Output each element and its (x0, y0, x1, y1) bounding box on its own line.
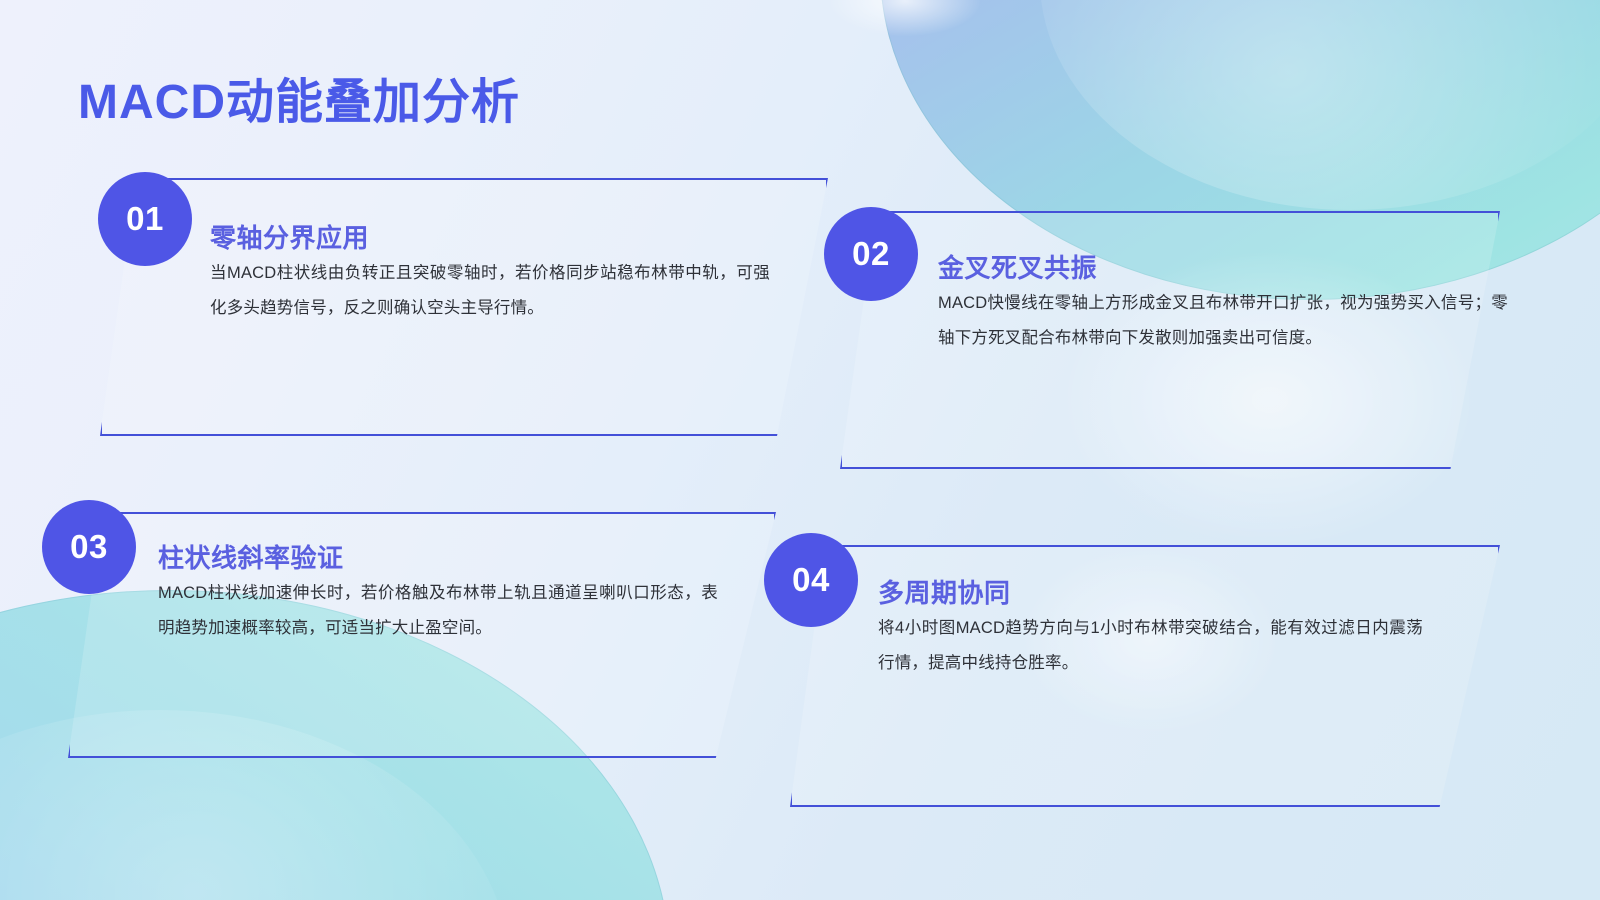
card-number-badge-04: 04 (764, 533, 858, 627)
card-number-badge-02: 02 (824, 207, 918, 301)
page-title: MACD动能叠加分析 (78, 62, 520, 132)
top-right-circle-highlight (1040, 0, 1600, 210)
info-card-02[interactable]: 02 金叉死叉共振 MACD快慢线在零轴上方形成金叉且布林带开口扩张，视为强势买… (840, 211, 1500, 469)
card-title-02: 金叉死叉共振 (938, 248, 1097, 285)
card-title-01: 零轴分界应用 (210, 218, 369, 255)
info-card-01[interactable]: 01 零轴分界应用 当MACD柱状线由负转正且突破零轴时，若价格同步站稳布林带中… (100, 178, 828, 436)
slide-canvas: MACD动能叠加分析 01 零轴分界应用 当MACD柱状线由负转正且突破零轴时，… (0, 0, 1600, 900)
card-text-04: 将4小时图MACD趋势方向与1小时布林带突破结合，能有效过滤日内震荡行情，提高中… (878, 611, 1423, 682)
card-title-04: 多周期协同 (878, 573, 1011, 610)
card-text-01: 当MACD柱状线由负转正且突破零轴时，若价格同步站稳布林带中轨，可强化多头趋势信… (210, 256, 770, 327)
card-text-02: MACD快慢线在零轴上方形成金叉且布林带开口扩张，视为强势买入信号；零轴下方死叉… (938, 286, 1508, 357)
info-card-04[interactable]: 04 多周期协同 将4小时图MACD趋势方向与1小时布林带突破结合，能有效过滤日… (790, 545, 1500, 807)
card-number-badge-03: 03 (42, 500, 136, 594)
top-edge-glow (830, 0, 980, 36)
card-number-badge-01: 01 (98, 172, 192, 266)
card-title-03: 柱状线斜率验证 (158, 538, 344, 575)
info-card-03[interactable]: 03 柱状线斜率验证 MACD柱状线加速伸长时，若价格触及布林带上轨且通道呈喇叭… (68, 512, 776, 758)
card-text-03: MACD柱状线加速伸长时，若价格触及布林带上轨且通道呈喇叭口形态，表明趋势加速概… (158, 576, 718, 647)
